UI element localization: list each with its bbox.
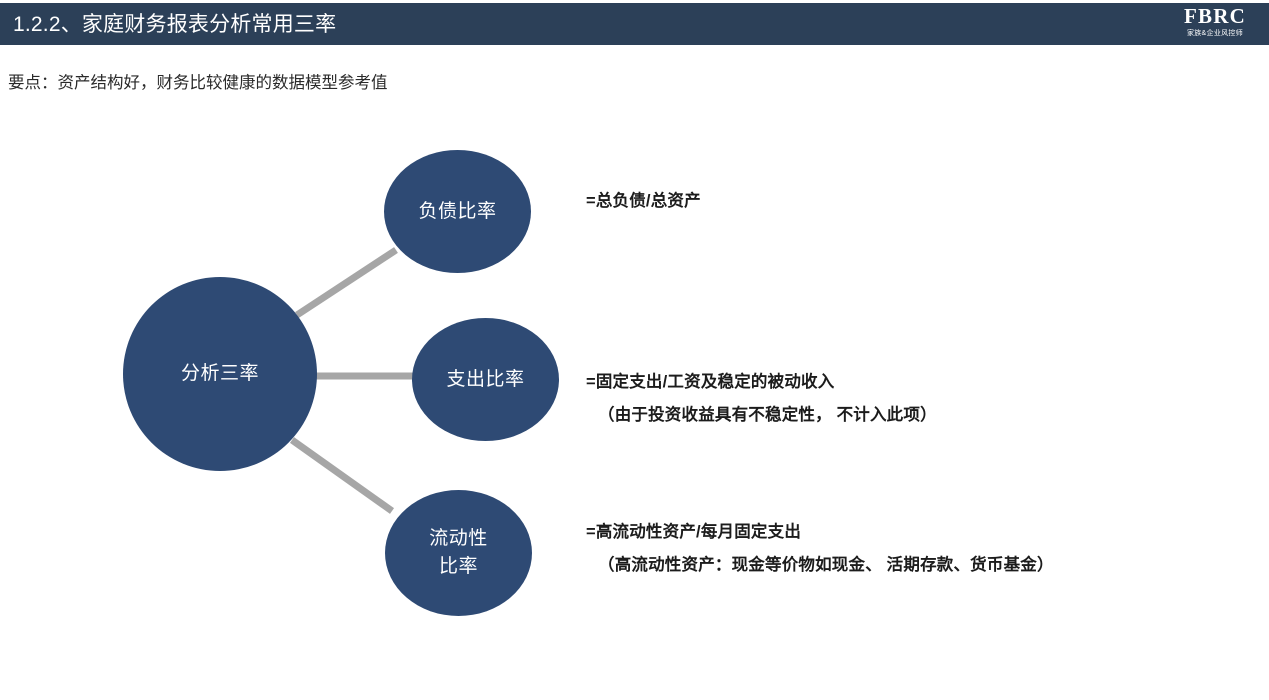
node-expense-ratio[interactable]: 支出比率 [412,318,559,441]
logo-tagline: 家族&企业风控师 [1169,30,1261,37]
formula-block-debt-ratio: =总负债/总资产 [586,187,701,211]
node-debt-ratio[interactable]: 负债比率 [384,150,531,273]
formula-block-expense-ratio: =固定支出/工资及稳定的被动收入 （由于投资收益具有不稳定性， 不计入此项） [586,368,937,425]
node-liquidity-ratio-label: 流动性 比率 [429,525,488,580]
node-liquidity-ratio-label-line2: 比率 [439,556,478,577]
formula-block-liquidity-ratio: =高流动性资产/每月固定支出 （高流动性资产：现金等价物如现金、 活期存款、货币… [586,518,1054,575]
node-liquidity-ratio-label-line1: 流动性 [429,528,488,549]
subtitle-text: 要点：资产结构好，财务比较健康的数据模型参考值 [8,69,388,93]
node-debt-ratio-label: 负债比率 [418,198,496,226]
connector-center-to-liquidity [292,440,392,511]
connector-center-to-debt [297,250,396,315]
formula-expense-ratio: =固定支出/工资及稳定的被动收入 [586,368,937,392]
node-center-label: 分析三率 [181,360,259,388]
node-liquidity-ratio[interactable]: 流动性 比率 [385,490,532,616]
node-center-analysis[interactable]: 分析三率 [123,277,317,471]
node-expense-ratio-label: 支出比率 [446,366,524,394]
slide: 1.2.2、家庭财务报表分析常用三率 FBRC 家族&企业风控师 要点：资产结构… [0,0,1269,700]
note-expense-ratio: （由于投资收益具有不稳定性， 不计入此项） [598,401,937,425]
brand-logo: FBRC 家族&企业风控师 [1169,4,1261,42]
note-liquidity-ratio: （高流动性资产：现金等价物如现金、 活期存款、货币基金） [598,551,1054,575]
formula-liquidity-ratio: =高流动性资产/每月固定支出 [586,518,1054,542]
logo-wordmark: FBRC [1169,6,1261,27]
page-title: 1.2.2、家庭财务报表分析常用三率 [13,8,336,38]
formula-debt-ratio: =总负债/总资产 [586,187,701,211]
